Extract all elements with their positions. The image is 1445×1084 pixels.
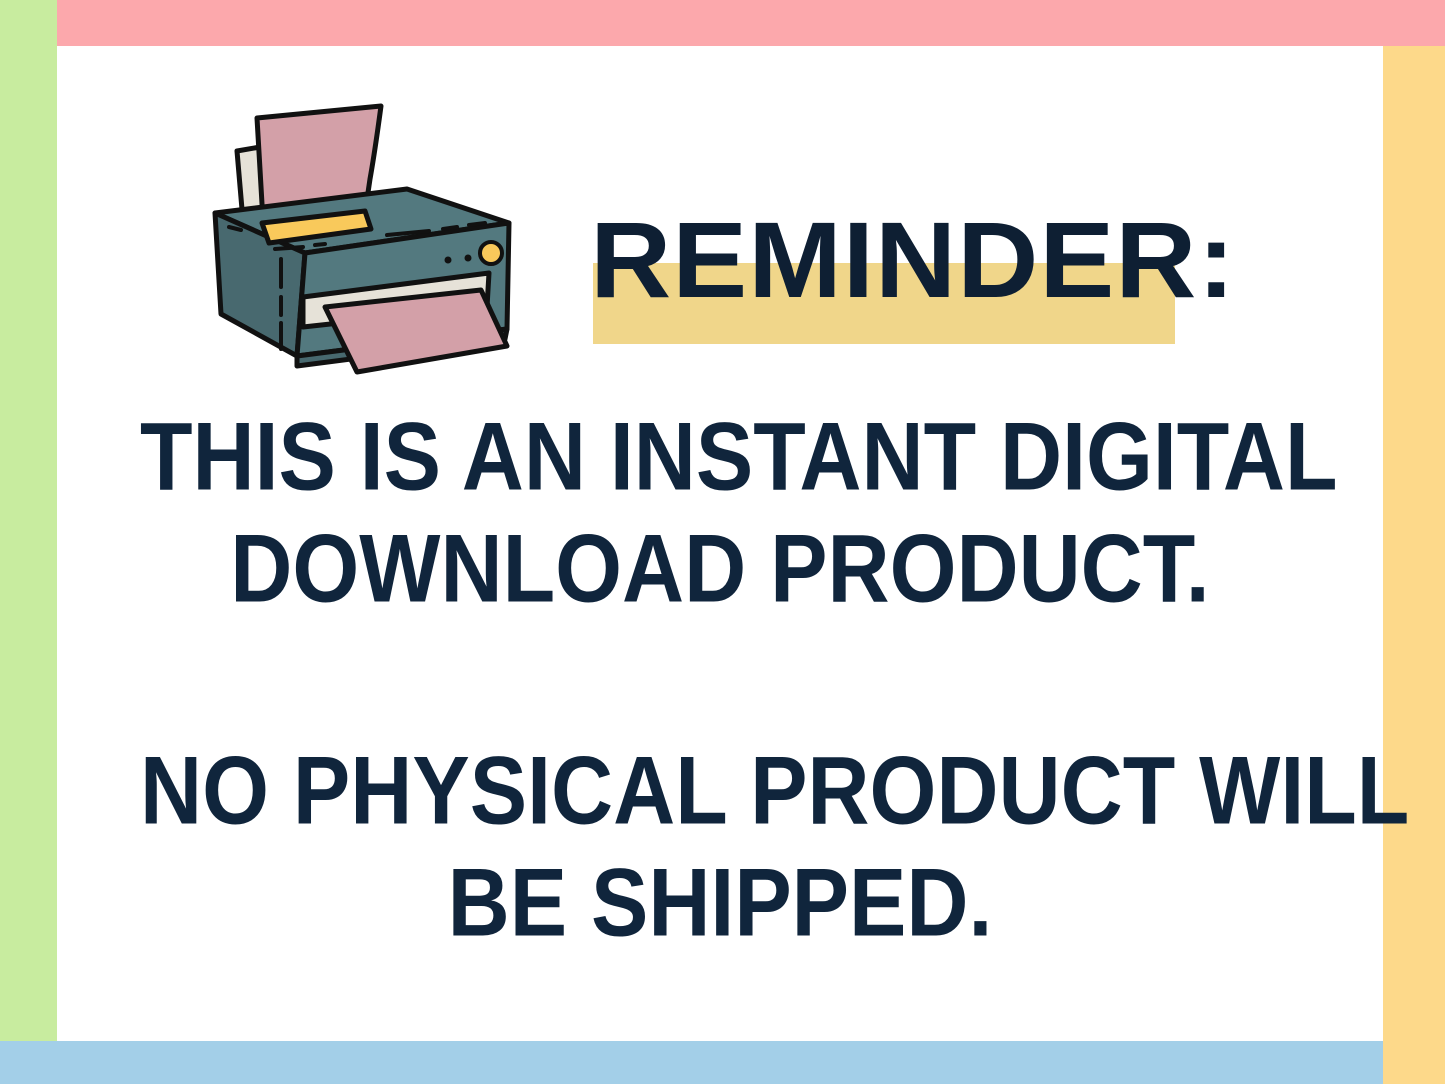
body-line-4: BE SHIPPED. [140, 840, 1300, 965]
content-card: REMINDER: THIS IS AN INSTANT DIGITAL DOW… [57, 46, 1383, 1041]
body-line-2: DOWNLOAD PRODUCT. [140, 506, 1300, 631]
top-color-band [57, 0, 1445, 46]
right-color-band [1383, 46, 1445, 1084]
bottom-color-band [0, 1041, 1383, 1084]
body-line-3: NO PHYSICAL PRODUCT WILL [140, 728, 1300, 853]
body-line-1: THIS IS AN INSTANT DIGITAL [140, 394, 1300, 519]
paragraph-spacer [140, 625, 1300, 735]
body-copy: THIS IS AN INSTANT DIGITAL DOWNLOAD PROD… [140, 401, 1300, 959]
headline-block: REMINDER: [593, 201, 1233, 401]
reminder-graphic: REMINDER: THIS IS AN INSTANT DIGITAL DOW… [0, 0, 1445, 1084]
printer-icon [185, 101, 545, 391]
left-color-band [0, 0, 57, 1041]
page-title: REMINDER: [580, 201, 1246, 319]
